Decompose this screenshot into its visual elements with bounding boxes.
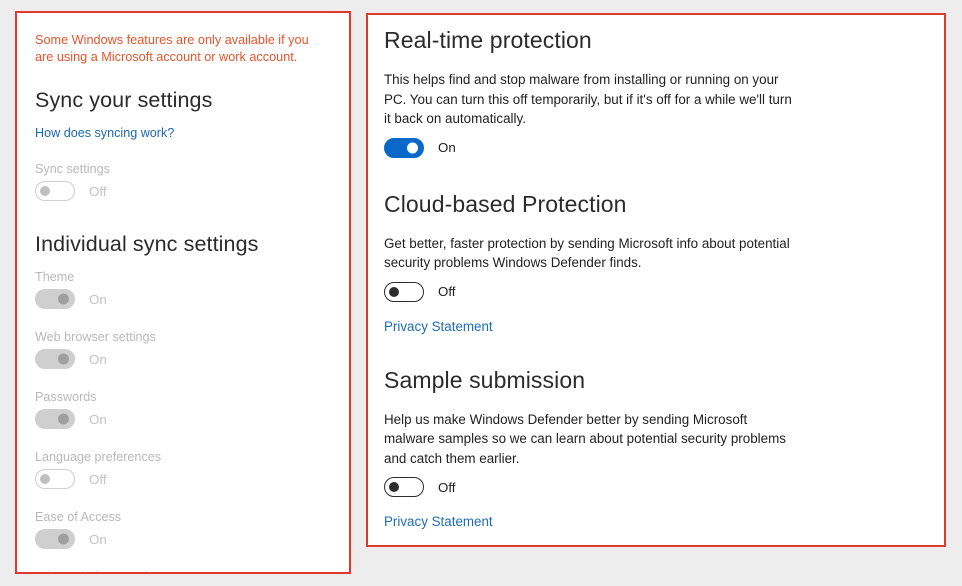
real-time-protection-description: This helps find and stop malware from in…: [384, 70, 792, 129]
sync-item-toggle-state: On: [89, 532, 107, 547]
toggle-knob: [40, 474, 50, 484]
real-time-protection-heading: Real-time protection: [384, 27, 918, 54]
sync-item-toggle-state: Off: [89, 472, 107, 487]
sample-submission-heading: Sample submission: [384, 367, 918, 394]
section-cloud-based-protection: Cloud-based Protection Get better, faste…: [384, 191, 918, 336]
sync-item-toggle-state: On: [89, 292, 107, 307]
real-time-protection-toggle-state: On: [438, 140, 456, 155]
cloud-based-protection-toggle-line: Off: [384, 282, 918, 302]
language-preferences-toggle: [35, 469, 75, 489]
sync-item-web-browser-settings: Web browser settings On: [35, 330, 327, 369]
web-browser-settings-toggle: [35, 349, 75, 369]
sync-item-label: Language preferences: [35, 450, 327, 464]
sync-item-toggle-line: On: [35, 529, 327, 549]
how-does-syncing-work-link[interactable]: How does syncing work?: [35, 126, 174, 140]
toggle-knob: [58, 534, 69, 545]
cloud-based-protection-toggle-state: Off: [438, 284, 456, 299]
cloud-based-protection-description: Get better, faster protection by sending…: [384, 234, 792, 273]
sync-item-theme: Theme On: [35, 270, 327, 309]
sync-settings-toggle-state: Off: [89, 184, 107, 199]
sync-item-label: Theme: [35, 270, 327, 284]
sample-submission-toggle-state: Off: [438, 480, 456, 495]
real-time-protection-toggle-line: On: [384, 138, 918, 158]
sync-settings-panel: Some Windows features are only available…: [15, 11, 351, 574]
sample-submission-toggle[interactable]: [384, 477, 424, 497]
sync-settings-toggle: [35, 181, 75, 201]
real-time-protection-toggle[interactable]: [384, 138, 424, 158]
sample-submission-description: Help us make Windows Defender better by …: [384, 410, 792, 469]
sync-item-passwords: Passwords On: [35, 390, 327, 429]
passwords-toggle: [35, 409, 75, 429]
cloud-privacy-statement-link[interactable]: Privacy Statement: [384, 319, 493, 334]
sync-item-language-preferences: Language preferences Off: [35, 450, 327, 489]
sync-item-label: Ease of Access: [35, 510, 327, 524]
ease-of-access-toggle: [35, 529, 75, 549]
sync-settings-label: Sync settings: [35, 162, 327, 176]
sync-item-toggle-state: On: [89, 412, 107, 427]
sync-settings-row: Sync settings Off: [35, 162, 327, 201]
toggle-knob: [407, 142, 418, 153]
cloud-based-protection-toggle[interactable]: [384, 282, 424, 302]
toggle-knob: [40, 186, 50, 196]
sync-item-toggle-line: On: [35, 349, 327, 369]
sync-item-toggle-line: On: [35, 289, 327, 309]
sync-item-ease-of-access: Ease of Access On: [35, 510, 327, 549]
sync-item-label: Web browser settings: [35, 330, 327, 344]
toggle-knob: [389, 482, 399, 492]
cloud-based-protection-heading: Cloud-based Protection: [384, 191, 918, 218]
sync-item-toggle-line: On: [35, 409, 327, 429]
sync-item-label: Other Windows settings: [35, 570, 327, 574]
windows-defender-settings-panel: Real-time protection This helps find and…: [366, 13, 946, 547]
toggle-knob: [58, 414, 69, 425]
sync-item-other-windows-settings: Other Windows settings On: [35, 570, 327, 574]
sync-item-label: Passwords: [35, 390, 327, 404]
sample-submission-privacy-statement-link[interactable]: Privacy Statement: [384, 514, 493, 529]
sample-submission-toggle-line: Off: [384, 477, 918, 497]
sync-settings-toggle-line: Off: [35, 181, 327, 201]
screenshot-stage: Some Windows features are only available…: [0, 0, 962, 586]
account-warning-text: Some Windows features are only available…: [35, 32, 327, 66]
toggle-knob: [58, 294, 69, 305]
sync-item-toggle-line: Off: [35, 469, 327, 489]
section-sample-submission: Sample submission Help us make Windows D…: [384, 367, 918, 532]
individual-sync-settings-heading: Individual sync settings: [35, 232, 327, 257]
theme-toggle: [35, 289, 75, 309]
sync-settings-heading: Sync your settings: [35, 88, 327, 113]
toggle-knob: [389, 287, 399, 297]
sync-item-toggle-state: On: [89, 352, 107, 367]
toggle-knob: [58, 354, 69, 365]
section-real-time-protection: Real-time protection This helps find and…: [384, 27, 918, 158]
